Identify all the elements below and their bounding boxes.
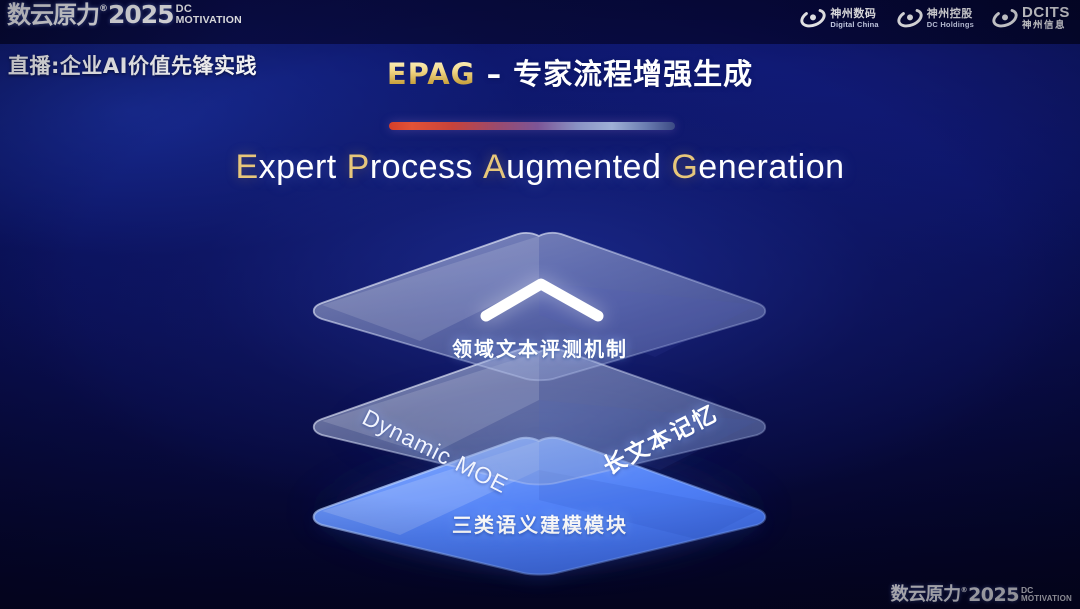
partner-name-cn: 神州信息 bbox=[1022, 21, 1070, 31]
partner-logo-dcits: DCITS 神州信息 bbox=[992, 5, 1070, 31]
subtitle-rest-process: rocess bbox=[370, 148, 473, 186]
partner-logo-dc-holdings: 神州控股 DC Holdings bbox=[897, 6, 974, 30]
partner-name-en: DCITS bbox=[1022, 5, 1070, 20]
partner-logo-digital-china: 神州数码 Digital China bbox=[800, 6, 878, 30]
watermark-dc-line1: DC bbox=[1021, 586, 1072, 594]
brand-name-cn: 数云原力 bbox=[7, 2, 99, 28]
stack-label-top: 领域文本评测机制 bbox=[0, 333, 1080, 362]
slide-canvas: 数云原力 ® 2025 DC MOTIVATION 直播:企业AI价值先锋实践 … bbox=[0, 0, 1080, 609]
subtitle-rest-augmented: ugmented bbox=[506, 148, 661, 186]
subtitle-cap-e: E bbox=[235, 148, 258, 186]
brand-dc-line1: DC bbox=[176, 4, 242, 14]
partner-label-dc-holdings: 神州控股 DC Holdings bbox=[927, 8, 974, 29]
stack-label-dynamic-moe: Dynamic MOE bbox=[358, 404, 513, 499]
chevron-up-icon bbox=[486, 284, 598, 316]
brand-registered-mark: ® bbox=[99, 0, 107, 22]
stack-layer-bottom bbox=[313, 438, 765, 578]
watermark-registered-mark: ® bbox=[961, 580, 968, 600]
subtitle-rest-generation: eneration bbox=[698, 148, 844, 186]
swoosh-icon bbox=[897, 6, 923, 30]
subtitle-rest-expert: xpert bbox=[259, 148, 337, 186]
gradient-divider bbox=[389, 122, 675, 130]
brand-dc-line2: MOTIVATION bbox=[176, 14, 242, 26]
brand-year: 2025 bbox=[108, 2, 174, 28]
stack-label-bottom: 三类语义建模模块 bbox=[0, 509, 1080, 538]
partner-label-dcits: DCITS 神州信息 bbox=[1022, 5, 1070, 31]
subtitle: Expert Process Augmented Generation bbox=[0, 148, 1080, 187]
title-acronym: EPAG bbox=[387, 57, 476, 91]
title-chinese: 专家流程增强生成 bbox=[513, 57, 753, 91]
watermark-year: 2025 bbox=[968, 585, 1019, 605]
title-dash: – bbox=[475, 57, 513, 91]
partner-name-cn: 神州数码 bbox=[830, 8, 878, 19]
partner-name-cn: 神州控股 bbox=[927, 8, 974, 19]
subtitle-cap-g: G bbox=[671, 148, 698, 186]
watermark-dc-line2: MOTIVATION bbox=[1021, 594, 1072, 604]
watermark-name-cn: 数云原力 bbox=[891, 585, 961, 605]
brand-logo: 数云原力 ® 2025 DC MOTIVATION bbox=[7, 2, 242, 28]
stack-label-long-text-memory: 长文本记忆 bbox=[596, 394, 723, 481]
partner-name-en: DC Holdings bbox=[927, 21, 974, 29]
subtitle-cap-p: P bbox=[347, 148, 370, 186]
partner-name-en: Digital China bbox=[830, 21, 878, 29]
swoosh-icon bbox=[800, 6, 826, 30]
page-title: EPAG – 专家流程增强生成 bbox=[0, 51, 1080, 93]
partner-label-digital-china: 神州数码 Digital China bbox=[830, 8, 878, 29]
partner-logo-group: 神州数码 Digital China 神州控股 DC Holdings bbox=[800, 5, 1070, 31]
watermark-dc-motivation: DC MOTIVATION bbox=[1021, 586, 1072, 604]
swoosh-icon bbox=[992, 6, 1018, 30]
subtitle-cap-a: A bbox=[483, 148, 506, 186]
brand-dc-motivation: DC MOTIVATION bbox=[176, 4, 242, 26]
watermark-logo: 数云原力 ® 2025 DC MOTIVATION bbox=[891, 585, 1072, 605]
